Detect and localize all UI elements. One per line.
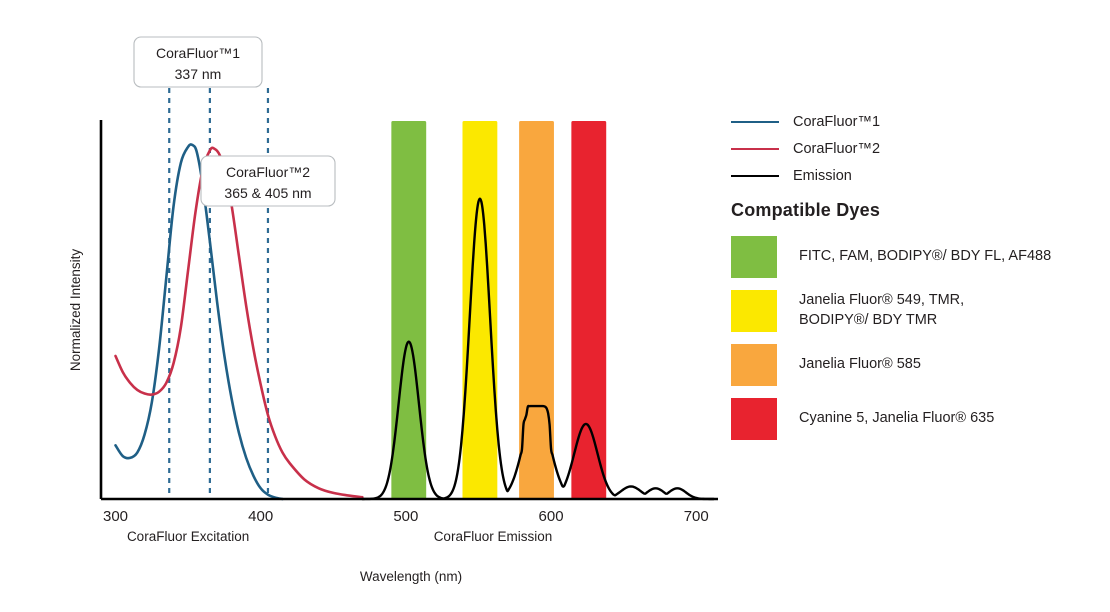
legend-line-swatch — [731, 175, 779, 177]
compatible-dyes-panel: Compatible Dyes FITC, FAM, BODIPY®/ BDY … — [731, 200, 1101, 451]
x-tick-label-600: 600 — [539, 508, 564, 525]
dye-item-label: Janelia Fluor® 585 — [799, 355, 921, 375]
annotation-callout-cf2: CoraFluor™2365 & 405 nm — [201, 156, 335, 206]
dye-item: FITC, FAM, BODIPY®/ BDY FL, AF488 — [731, 235, 1101, 279]
callout-line1: CoraFluor™2 — [226, 164, 310, 180]
legend-line-swatch — [731, 148, 779, 150]
x-tick-label-400: 400 — [248, 508, 273, 525]
annotation-callout-cf1: CoraFluor™1337 nm — [134, 37, 262, 87]
legend-item-label: Emission — [793, 168, 852, 184]
dye-label-line1: Cyanine 5, Janelia Fluor® 635 — [799, 410, 994, 426]
region-label: CoraFluor Excitation — [127, 529, 249, 544]
chart-figure: 300400500600700CoraFluor ExcitationCoraF… — [0, 0, 1110, 612]
x-axis-title: Wavelength (nm) — [360, 569, 462, 584]
callout-line1: CoraFluor™1 — [156, 45, 240, 61]
x-tick-label-500: 500 — [393, 508, 418, 525]
dye-color-swatch — [731, 236, 777, 278]
dye-item-label: FITC, FAM, BODIPY®/ BDY FL, AF488 — [799, 247, 1051, 267]
callout-line2: 337 nm — [175, 66, 222, 82]
region-label: CoraFluor Emission — [434, 529, 553, 544]
dye-color-swatch — [731, 398, 777, 440]
callout-line2: 365 & 405 nm — [224, 185, 311, 201]
legend-item-label: CoraFluor™2 — [793, 141, 880, 157]
legend-item: Emission — [731, 162, 1091, 189]
legend-item: CoraFluor™2 — [731, 135, 1091, 162]
legend-line-swatch — [731, 121, 779, 123]
legend-item: CoraFluor™1 — [731, 108, 1091, 135]
x-tick-label-300: 300 — [103, 508, 128, 525]
y-axis-title: Normalized Intensity — [68, 249, 83, 372]
dye-band-orange — [519, 121, 554, 499]
dye-label-line1: Janelia Fluor® 549, TMR, — [799, 292, 964, 308]
dye-band-yellow — [462, 121, 497, 499]
dye-item: Janelia Fluor® 549, TMR, BODIPY®/ BDY TM… — [731, 289, 1101, 333]
dye-item-label: Janelia Fluor® 549, TMR, BODIPY®/ BDY TM… — [799, 291, 964, 330]
legend-item-label: CoraFluor™1 — [793, 114, 880, 130]
dye-label-line2: BODIPY®/ BDY TMR — [799, 312, 937, 328]
dye-color-swatch — [731, 290, 777, 332]
dye-color-swatch — [731, 344, 777, 386]
dye-item: Janelia Fluor® 585 — [731, 343, 1101, 387]
dye-band-green — [391, 121, 426, 499]
dye-label-line1: FITC, FAM, BODIPY®/ BDY FL, AF488 — [799, 248, 1051, 264]
callout-layer: CoraFluor™1337 nmCoraFluor™2365 & 405 nm — [134, 37, 335, 206]
dye-item-label: Cyanine 5, Janelia Fluor® 635 — [799, 409, 994, 429]
series-legend: CoraFluor™1 CoraFluor™2 Emission — [731, 108, 1091, 189]
compatible-dyes-title: Compatible Dyes — [731, 200, 1101, 221]
dye-item: Cyanine 5, Janelia Fluor® 635 — [731, 397, 1101, 441]
dye-label-line1: Janelia Fluor® 585 — [799, 356, 921, 372]
x-tick-label-700: 700 — [684, 508, 709, 525]
